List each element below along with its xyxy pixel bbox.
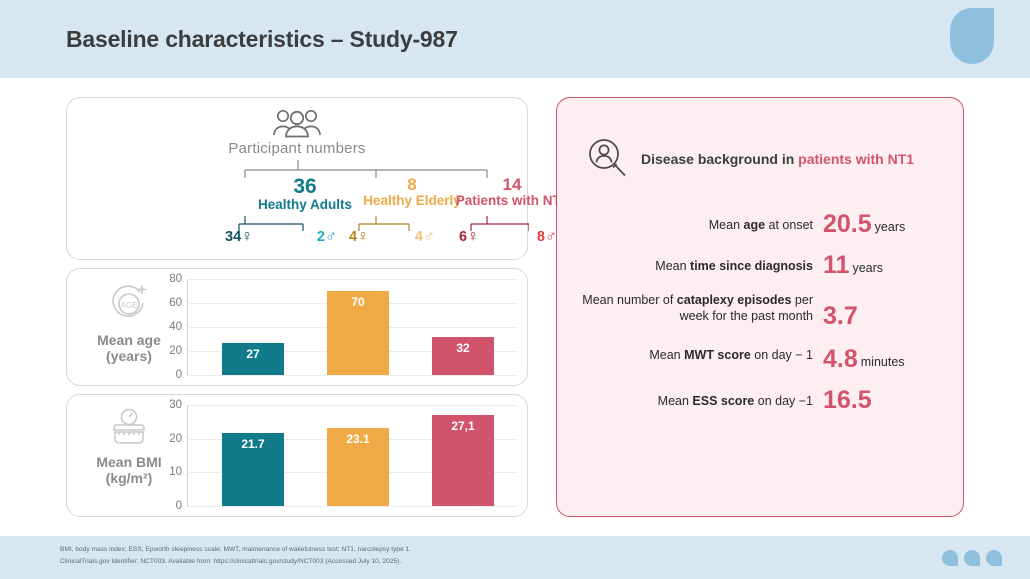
bar-value: 27,1 [432,419,494,433]
stat-value: 11years [813,251,947,280]
stat-row-mwt-score: Mean MWT score on day − 1 4.8minutes [571,345,947,374]
stat-label: Mean time since diagnosis [571,251,813,274]
bar-healthy-elderly: 23.1 [327,428,389,506]
footer-dot [964,550,980,566]
scale-weight-icon [106,407,152,447]
stat-number: 4.8 [823,345,858,373]
y-tick-label: 40 [169,321,182,333]
sex-split-healthy-elderly: 4♀ 4♂ [349,228,435,246]
mean-age-label: Mean age (years) [77,332,181,364]
stat-label: Mean MWT score on day − 1 [571,345,813,363]
stat-value: 16.5 [813,386,947,415]
sex-split-healthy-adults: 34♀ 2♂ [225,228,337,246]
gridline [187,375,517,376]
mean-bmi-label: Mean BMI (kg/m²) [77,454,181,486]
footnote-line-1: BMI, body mass index; ESS, Epworth sleep… [60,544,411,556]
stat-label: Mean number of cataplexy episodes per we… [571,292,813,324]
slide-footer: BMI, body mass index; ESS, Epworth sleep… [0,536,1030,579]
bar-value: 32 [432,341,494,355]
disease-stats-list: Mean age at onset 20.5years Mean time si… [571,210,947,427]
disease-background-header: Disease background in patients with NT1 [585,136,914,182]
female-icon: ♀ [241,228,253,245]
male-count-elderly: 4♂ [415,228,435,246]
stat-number: 11 [823,251,849,279]
y-tick-label: 20 [169,345,182,357]
sex-split-patients-nt1: 6♀ 8♂ [459,228,557,246]
stat-row-cataplexy-episodes: Mean number of cataplexy episodes per we… [571,292,947,331]
header-drop-decoration [950,8,994,64]
bar-patients-nt1: 27,1 [432,415,494,506]
disease-background-panel: Disease background in patients with NT1 … [556,97,964,517]
stat-row-ess-score: Mean ESS score on day −1 16.5 [571,386,947,415]
page-title: Baseline characteristics – Study-987 [66,26,458,53]
y-tick-label: 0 [176,500,182,512]
stat-unit: minutes [861,355,905,369]
female-count-elderly: 4♀ [349,228,369,246]
stat-unit: years [875,220,906,234]
magnifier-person-icon [585,136,631,182]
mean-bmi-plot-area: 30 20 10 0 21.7 23.1 27,1 [187,405,517,506]
footnote-line-2: ClinicalTrials.gov Identifier: NCT003. A… [60,556,411,568]
stat-value: 20.5years [813,210,947,239]
y-tick-label: 10 [169,466,182,478]
male-count-nt1: 8♂ [537,228,557,246]
stat-number: 16.5 [823,386,872,414]
slide: Baseline characteristics – Study-987 Par… [0,0,1030,579]
female-count-adults: 34♀ [225,228,253,246]
stat-unit: years [852,261,883,275]
footer-dot [986,550,1002,566]
y-tick-label: 20 [169,433,182,445]
bar-value: 27 [222,347,284,361]
mean-bmi-icon-group: Mean BMI (kg/m²) [77,407,181,486]
mean-age-chart-panel: AGE Mean age (years) 80 60 40 20 0 27 [66,268,528,386]
mean-age-plot-area: 80 60 40 20 0 27 70 32 [187,279,517,375]
bar-healthy-adults: 27 [222,343,284,375]
bar-healthy-adults: 21.7 [222,433,284,506]
bar-value: 23.1 [327,432,389,446]
disease-background-title: Disease background in patients with NT1 [641,151,914,167]
bar-healthy-elderly: 70 [327,291,389,375]
stat-value: 3.7 [813,292,947,331]
female-icon: ♀ [467,228,479,245]
stat-label: Mean age at onset [571,210,813,233]
stat-number: 3.7 [823,302,858,330]
mean-bmi-chart-panel: Mean BMI (kg/m²) 30 20 10 0 21.7 23.1 [66,394,528,517]
y-tick-label: 80 [169,273,182,285]
age-circle-icon: AGE [106,281,152,325]
footer-dot [942,550,958,566]
stat-value: 4.8minutes [813,345,947,374]
y-tick-label: 30 [169,399,182,411]
male-icon: ♂ [325,228,337,245]
male-count-adults: 2♂ [317,228,337,246]
male-icon: ♂ [423,228,435,245]
stat-number: 20.5 [823,210,872,238]
y-tick-label: 60 [169,297,182,309]
bar-value: 21.7 [222,437,284,451]
bar-value: 70 [327,295,389,309]
participant-numbers-panel: Participant numbers 36 Healthy Adults 8 … [66,97,528,260]
female-count-nt1: 6♀ [459,228,479,246]
svg-text:AGE: AGE [121,301,138,310]
bar-patients-nt1: 32 [432,337,494,375]
mean-bmi-bars: 21.7 23.1 27,1 [187,405,517,506]
footnote-text: BMI, body mass index; ESS, Epworth sleep… [60,544,411,567]
mean-age-icon-group: AGE Mean age (years) [77,281,181,364]
stat-row-time-since-diagnosis: Mean time since diagnosis 11years [571,251,947,280]
mean-age-bars: 27 70 32 [187,279,517,375]
stat-row-age-at-onset: Mean age at onset 20.5years [571,210,947,239]
y-tick-label: 0 [176,369,182,381]
female-icon: ♀ [357,228,369,245]
stat-label: Mean ESS score on day −1 [571,386,813,409]
footer-dots-decoration [942,550,1002,566]
slide-header: Baseline characteristics – Study-987 [0,0,1030,78]
gridline [187,506,517,507]
